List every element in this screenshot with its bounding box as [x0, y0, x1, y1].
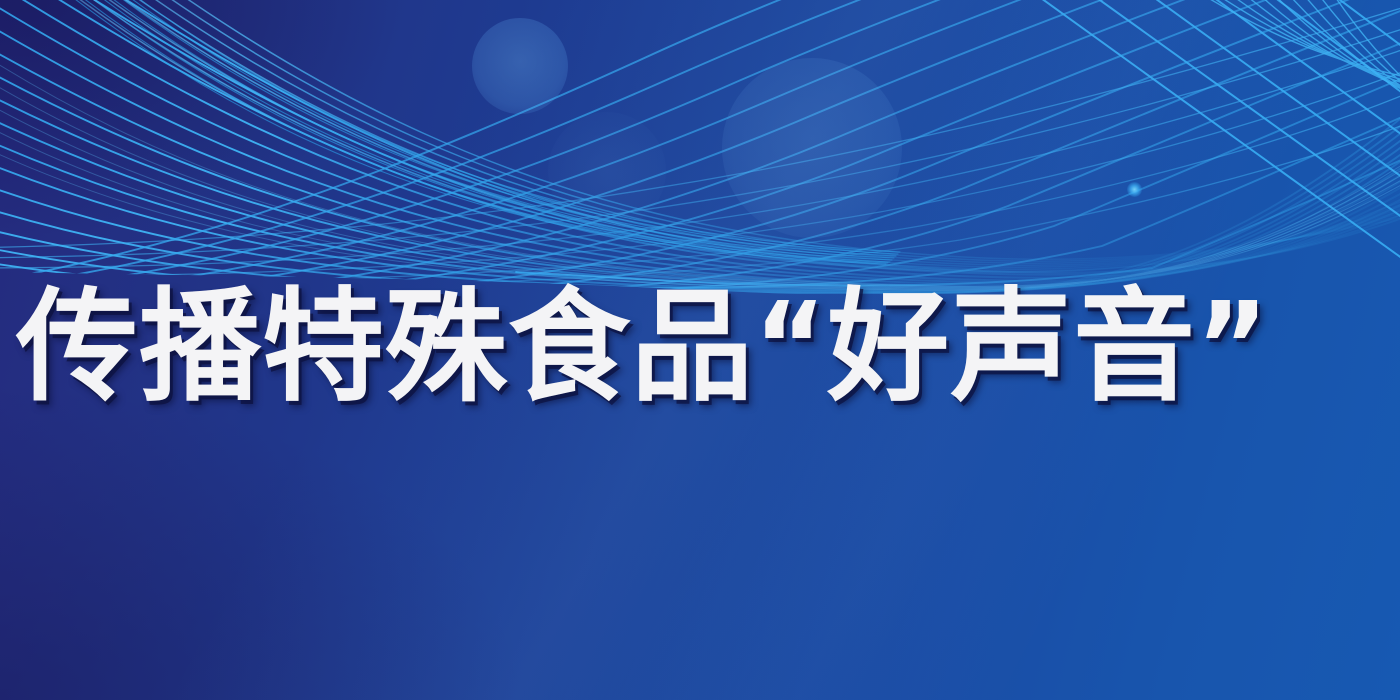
- banner-title-container: 传播特殊食品“好声音”: [0, 272, 1400, 422]
- banner-title: 传播特殊食品“好声音”: [0, 286, 1269, 408]
- accent-dot-icon: [1127, 182, 1142, 197]
- banner-root: 传播特殊食品“好声音”: [0, 0, 1400, 700]
